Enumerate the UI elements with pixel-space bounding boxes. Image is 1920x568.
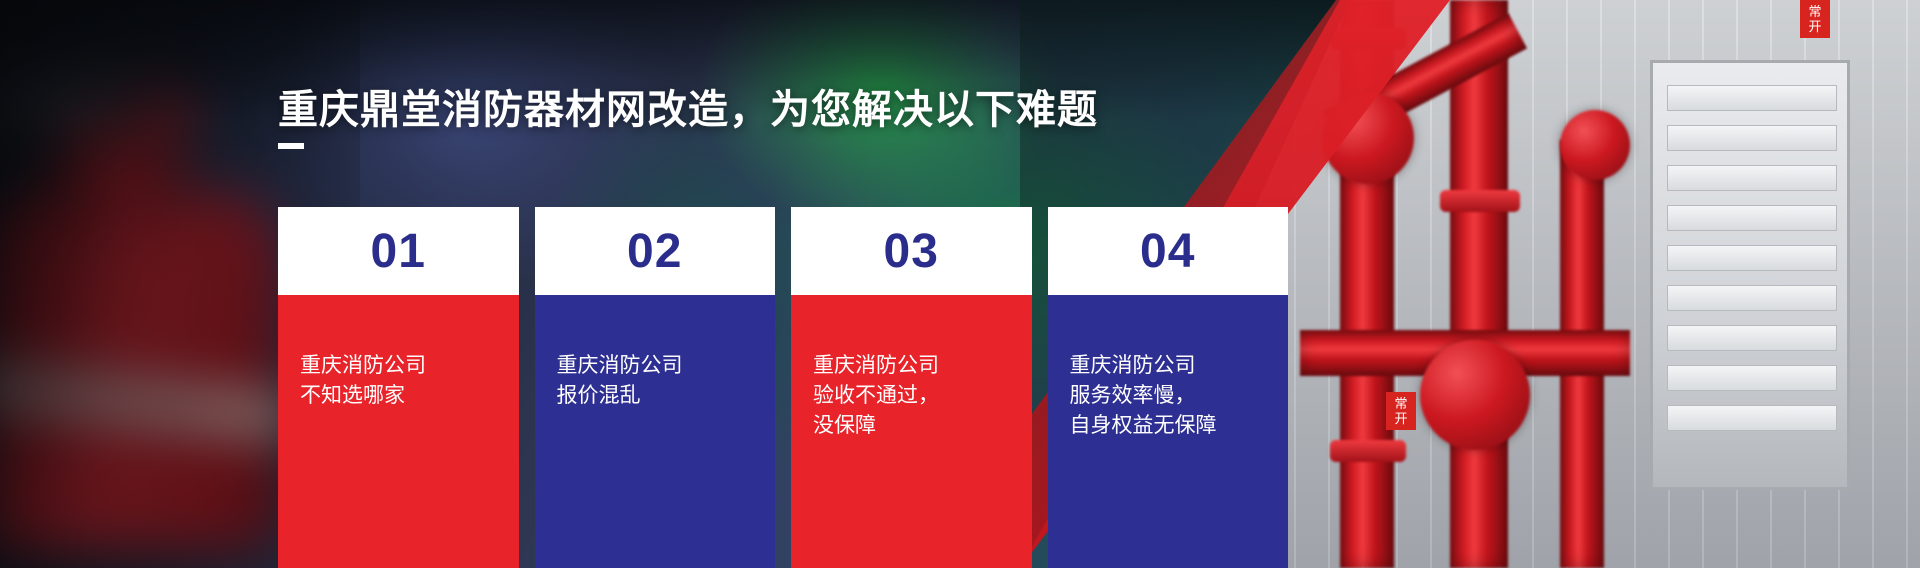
card-number: 04 bbox=[1048, 207, 1289, 295]
problem-card-03[interactable]: 03 重庆消防公司 验收不通过， 没保障 bbox=[791, 207, 1032, 568]
title-underline-dash bbox=[278, 143, 304, 149]
card-body: 重庆消防公司 不知选哪家 bbox=[278, 295, 519, 568]
card-number: 02 bbox=[535, 207, 776, 295]
card-body: 重庆消防公司 报价混乱 bbox=[535, 295, 776, 568]
problem-card-04[interactable]: 04 重庆消防公司 服务效率慢， 自身权益无保障 bbox=[1048, 207, 1289, 568]
card-text-line: 不知选哪家 bbox=[300, 381, 497, 411]
card-text-line: 验收不通过， bbox=[813, 381, 1010, 411]
card-text-line: 报价混乱 bbox=[557, 381, 754, 411]
problem-card-02[interactable]: 02 重庆消防公司 报价混乱 bbox=[535, 207, 776, 568]
card-text-line: 重庆消防公司 bbox=[557, 351, 754, 381]
card-text-line: 没保障 bbox=[813, 411, 1010, 441]
card-number: 03 bbox=[791, 207, 1032, 295]
card-text-line: 重庆消防公司 bbox=[813, 351, 1010, 381]
card-text-line: 重庆消防公司 bbox=[1070, 351, 1267, 381]
card-text-line: 服务效率慢， bbox=[1070, 381, 1267, 411]
card-number: 01 bbox=[278, 207, 519, 295]
card-text-line: 重庆消防公司 bbox=[300, 351, 497, 381]
page-title: 重庆鼎堂消防器材网改造，为您解决以下难题 bbox=[278, 84, 1098, 136]
banner-content: 重庆鼎堂消防器材网改造，为您解决以下难题 01 重庆消防公司 不知选哪家 02 … bbox=[0, 0, 1920, 568]
problem-card-01[interactable]: 01 重庆消防公司 不知选哪家 bbox=[278, 207, 519, 568]
card-text-line: 自身权益无保障 bbox=[1070, 411, 1267, 441]
problem-card-list: 01 重庆消防公司 不知选哪家 02 重庆消防公司 报价混乱 03 重庆消防公司… bbox=[278, 207, 1288, 568]
promo-banner: 常开 常闭 常开 重庆鼎堂消防器材网改造，为您解决以下难题 01 重庆消防公司 … bbox=[0, 0, 1920, 568]
card-body: 重庆消防公司 服务效率慢， 自身权益无保障 bbox=[1048, 295, 1289, 568]
card-body: 重庆消防公司 验收不通过， 没保障 bbox=[791, 295, 1032, 568]
